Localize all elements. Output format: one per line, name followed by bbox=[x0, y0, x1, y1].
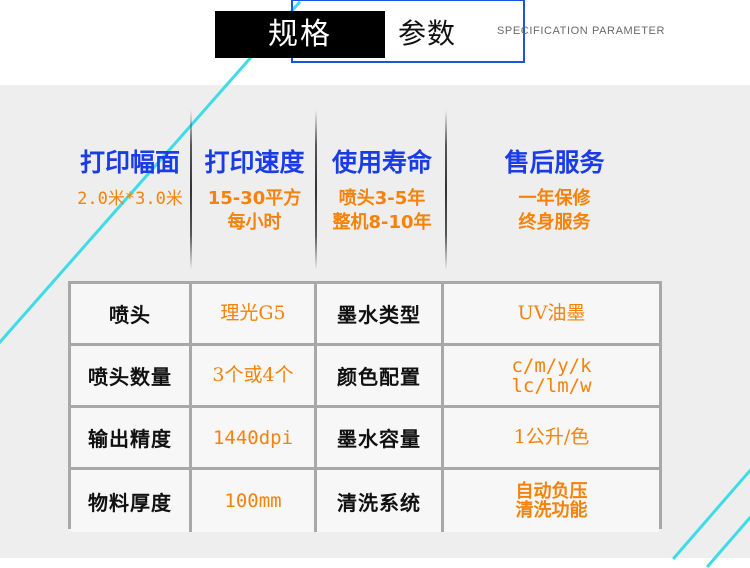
feature-value: 15-30平方 每小时 bbox=[192, 187, 317, 235]
spec-value: 理光G5 bbox=[220, 303, 285, 324]
feature-column-print-width: 打印幅面 2.0米*3.0米 bbox=[68, 110, 192, 270]
feature-highlight-row: 打印幅面 2.0米*3.0米 打印速度 15-30平方 每小时 使用寿命 喷头3… bbox=[68, 110, 662, 270]
spec-value: 100mm bbox=[224, 491, 281, 511]
specification-table: 喷头 理光G5 墨水类型 UV油墨 喷头数量 3个或4个 颜色配置 c/m/y/… bbox=[68, 281, 662, 529]
feature-column-service-life: 使用寿命 喷头3-5年 整机8-10年 bbox=[317, 110, 447, 270]
table-row: 物料厚度 100mm 清洗系统 自动负压 清洗功能 bbox=[71, 470, 659, 532]
spec-parameter-banner: 规格 参数 SPECIFICATION PARAMETER 打印幅面 2.0米*… bbox=[0, 0, 750, 558]
header-title-cn: 规格 bbox=[215, 11, 385, 58]
spec-label: 喷头 bbox=[109, 299, 151, 328]
spec-label-cell: 颜色配置 bbox=[317, 346, 444, 408]
spec-value-cell: 理光G5 bbox=[192, 284, 317, 346]
spec-value-cell: 3个或4个 bbox=[192, 346, 317, 408]
spec-label-cell: 输出精度 bbox=[71, 408, 192, 470]
spec-value: UV油墨 bbox=[518, 303, 586, 324]
feature-value: 2.0米*3.0米 bbox=[68, 187, 192, 211]
spec-value: c/m/y/k lc/lm/w bbox=[511, 356, 591, 396]
feature-title: 打印幅面 bbox=[68, 148, 192, 178]
feature-column-after-sales: 售后服务 一年保修 终身服务 bbox=[447, 110, 662, 270]
spec-label: 墨水类型 bbox=[337, 299, 421, 328]
spec-label: 物料厚度 bbox=[88, 487, 172, 516]
spec-value: 1公升/色 bbox=[514, 427, 590, 448]
feature-title: 打印速度 bbox=[192, 148, 317, 178]
table-row: 喷头数量 3个或4个 颜色配置 c/m/y/k lc/lm/w bbox=[71, 346, 659, 408]
spec-label-cell: 墨水类型 bbox=[317, 284, 444, 346]
spec-label-cell: 墨水容量 bbox=[317, 408, 444, 470]
spec-value: 自动负压 清洗功能 bbox=[516, 482, 588, 520]
feature-column-print-speed: 打印速度 15-30平方 每小时 bbox=[192, 110, 317, 270]
spec-label-cell: 喷头数量 bbox=[71, 346, 192, 408]
spec-value-cell: 1公升/色 bbox=[444, 408, 659, 470]
feature-title: 使用寿命 bbox=[317, 148, 447, 178]
header-subtitle-cn: 参数 bbox=[398, 12, 456, 56]
feature-title: 售后服务 bbox=[447, 148, 662, 178]
spec-value-cell: 100mm bbox=[192, 470, 317, 532]
spec-label: 墨水容量 bbox=[337, 423, 421, 452]
spec-value: 1440dpi bbox=[213, 428, 293, 448]
spec-value-cell: 1440dpi bbox=[192, 408, 317, 470]
spec-label-cell: 物料厚度 bbox=[71, 470, 192, 532]
header-title-en: SPECIFICATION PARAMETER bbox=[497, 25, 665, 37]
spec-label: 输出精度 bbox=[88, 423, 172, 452]
table-row: 喷头 理光G5 墨水类型 UV油墨 bbox=[71, 284, 659, 346]
spec-value-cell: c/m/y/k lc/lm/w bbox=[444, 346, 659, 408]
banner-header: 规格 参数 SPECIFICATION PARAMETER bbox=[0, 0, 750, 85]
spec-label: 清洗系统 bbox=[337, 487, 421, 516]
spec-value: 3个或4个 bbox=[212, 365, 293, 386]
feature-value: 喷头3-5年 整机8-10年 bbox=[317, 187, 447, 235]
feature-value: 一年保修 终身服务 bbox=[447, 187, 662, 235]
spec-label-cell: 喷头 bbox=[71, 284, 192, 346]
spec-label-cell: 清洗系统 bbox=[317, 470, 444, 532]
spec-value-cell: UV油墨 bbox=[444, 284, 659, 346]
table-row: 输出精度 1440dpi 墨水容量 1公升/色 bbox=[71, 408, 659, 470]
spec-label: 颜色配置 bbox=[337, 361, 421, 390]
spec-value-cell: 自动负压 清洗功能 bbox=[444, 470, 659, 532]
spec-label: 喷头数量 bbox=[88, 361, 172, 390]
